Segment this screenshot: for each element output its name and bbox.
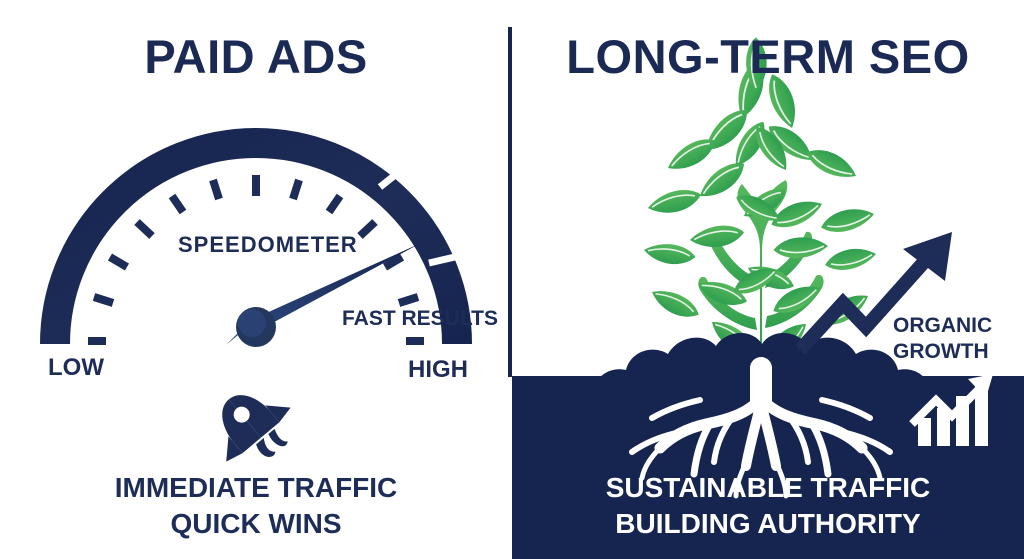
paid-ads-caption: IMMEDIATE TRAFFIC QUICK WINS [0,470,512,542]
long-term-seo-title: LONG-TERM SEO [512,33,1024,80]
organic-growth-label: ORGANIC GROWTH [893,313,992,364]
speedometer-label: SPEEDOMETER [178,233,358,256]
gauge-min-label: LOW [48,355,104,380]
fast-results-label: FAST RESULTS [342,308,426,330]
long-term-seo-caption: SUSTAINABLE TRAFFIC BUILDING AUTHORITY [512,470,1024,542]
paid-ads-title: PAID ADS [0,33,512,80]
gauge-max-label: HIGH [408,357,468,382]
infographic-canvas: PAID ADS LONG-TERM SEO SPEEDOMETER LOW H… [0,0,1024,559]
